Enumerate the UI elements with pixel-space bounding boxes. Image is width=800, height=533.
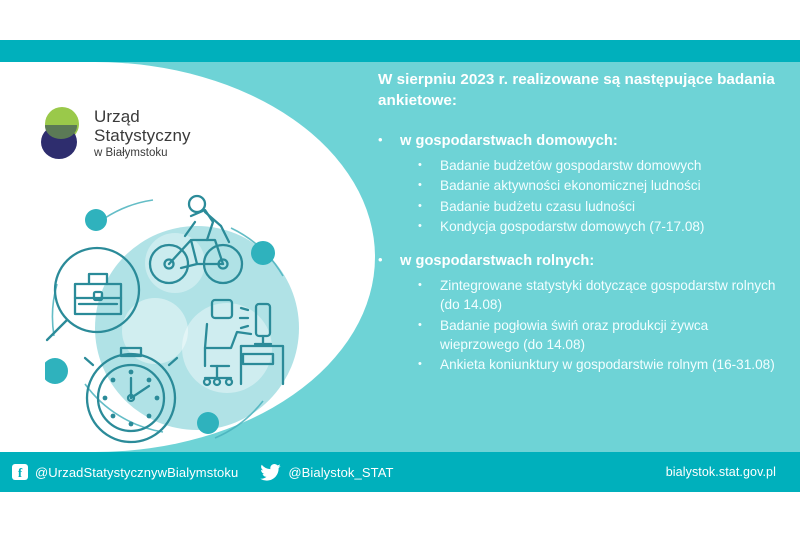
poster-canvas: Urząd Statystyczny w Białymstoku xyxy=(0,40,800,492)
logo-mark xyxy=(38,105,84,161)
level2-bullet-icon xyxy=(418,160,440,171)
level1-bullet-icon xyxy=(378,253,400,266)
website-url[interactable]: bialystok.stat.gov.pl xyxy=(666,465,776,479)
logo-wordmark: Urząd Statystyczny w Białymstoku xyxy=(94,107,228,160)
organization-logo: Urząd Statystyczny w Białymstoku xyxy=(38,98,228,168)
twitter-link[interactable]: @Bialystok_STAT xyxy=(260,464,393,481)
top-accent-bar xyxy=(0,40,800,62)
list-item-label: Zintegrowane statystyki dotyczące gospod… xyxy=(440,276,782,315)
group-farms: w gospodarstwach rolnych: Zintegrowane s… xyxy=(378,253,782,374)
level2-bullet-icon xyxy=(418,320,440,331)
list-item-label: Badanie budżetu czasu ludności xyxy=(440,197,782,216)
group-label: w gospodarstwach domowych: xyxy=(400,133,618,149)
facebook-link[interactable]: f @UrzadStatystycznywBialymstoku xyxy=(12,464,238,480)
list-item: Kondycja gospodarstw domowych (7-17.08) xyxy=(378,217,782,236)
group-households: w gospodarstwach domowych: Badanie budże… xyxy=(378,133,782,236)
facebook-icon: f xyxy=(12,464,28,480)
group-heading-row: w gospodarstwach domowych: xyxy=(378,133,782,149)
footer-bar: f @UrzadStatystycznywBialymstoku @Bialys… xyxy=(0,452,800,492)
list-item-label: Ankieta koniunktury w gospodarstwie roln… xyxy=(440,355,782,374)
list-item-label: Kondycja gospodarstw domowych (7-17.08) xyxy=(440,217,782,236)
twitter-handle: @Bialystok_STAT xyxy=(288,465,393,480)
headline: W sierpniu 2023 r. realizowane są następ… xyxy=(378,70,782,112)
survey-illustration xyxy=(45,188,345,473)
list-item: Badanie pogłowia świń oraz produkcji żyw… xyxy=(378,316,782,355)
list-item-label: Badanie pogłowia świń oraz produkcji żyw… xyxy=(440,316,782,355)
logo-line-1: Urząd Statystyczny xyxy=(94,107,228,145)
content-column: W sierpniu 2023 r. realizowane są następ… xyxy=(378,70,782,376)
list-item: Badanie aktywności ekonomicznej ludności xyxy=(378,176,782,195)
group-label: w gospodarstwach rolnych: xyxy=(400,253,594,269)
facebook-handle: @UrzadStatystycznywBialymstoku xyxy=(35,465,238,480)
twitter-bird-icon xyxy=(260,464,281,481)
survey-list-households: Badanie budżetów gospodarstw domowych Ba… xyxy=(378,156,782,236)
level1-bullet-icon xyxy=(378,133,400,146)
list-item: Zintegrowane statystyki dotyczące gospod… xyxy=(378,276,782,315)
level2-bullet-icon xyxy=(418,359,440,370)
list-item: Ankieta koniunktury w gospodarstwie roln… xyxy=(378,355,782,374)
level2-bullet-icon xyxy=(418,180,440,191)
level2-bullet-icon xyxy=(418,280,440,291)
logo-line-2: w Białymstoku xyxy=(94,147,228,160)
group-heading-row: w gospodarstwach rolnych: xyxy=(378,253,782,269)
list-item: Badanie budżetów gospodarstw domowych xyxy=(378,156,782,175)
list-item-label: Badanie budżetów gospodarstw domowych xyxy=(440,156,782,175)
list-item: Badanie budżetu czasu ludności xyxy=(378,197,782,216)
survey-list-farms: Zintegrowane statystyki dotyczące gospod… xyxy=(378,276,782,374)
level2-bullet-icon xyxy=(418,221,440,232)
list-item-label: Badanie aktywności ekonomicznej ludności xyxy=(440,176,782,195)
level2-bullet-icon xyxy=(418,201,440,212)
